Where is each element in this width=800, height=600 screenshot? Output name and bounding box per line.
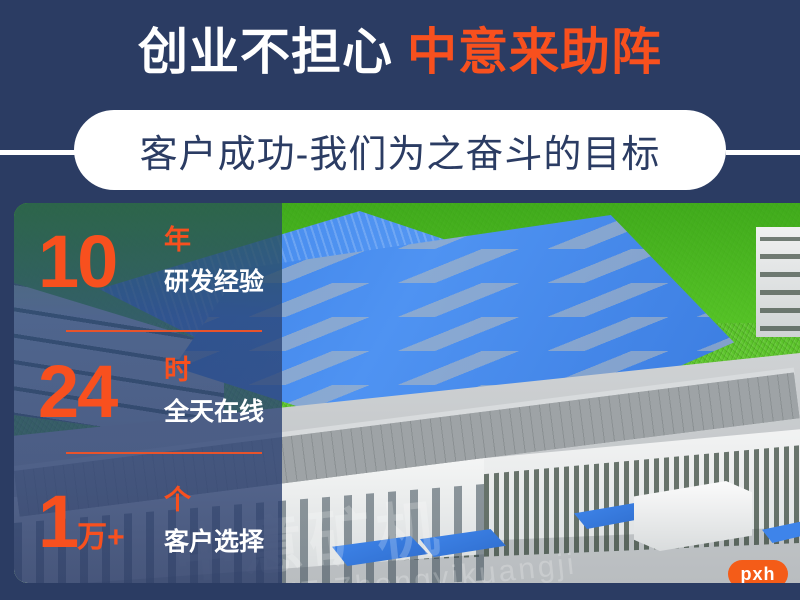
- stat-number-customers: 1万+: [38, 481, 125, 579]
- subtitle-pill: 客户成功-我们为之奋斗的目标: [74, 110, 726, 190]
- header-rule-left: [0, 150, 78, 155]
- subtitle-text: 客户成功-我们为之奋斗的目标: [140, 123, 661, 178]
- stat-label-customers: 客户选择: [164, 527, 264, 557]
- stat-number-value-online: 24: [38, 350, 116, 433]
- promo-poster: 创业不担心中意来助阵 客户成功-我们为之奋斗的目标: [0, 0, 800, 600]
- stat-label-online: 全天在线: [164, 397, 264, 427]
- stat-number-online: 24: [38, 351, 116, 449]
- stat-separator-2: [66, 452, 262, 454]
- stat-number-value-customers: 1: [38, 480, 77, 563]
- background-building-right-windows: [760, 237, 800, 331]
- stat-number-suffix-customers: 万+: [77, 521, 125, 554]
- stat-item-customers: 1万+ 个 客户选择: [14, 481, 282, 573]
- stat-unit-experience: 年: [164, 225, 191, 255]
- stat-number-value-experience: 10: [38, 220, 116, 303]
- headline-white-part: 创业不担心: [138, 24, 393, 80]
- stat-number-experience: 10: [38, 221, 116, 319]
- headline: 创业不担心中意来助阵: [0, 22, 800, 82]
- poster-header: 创业不担心中意来助阵 客户成功-我们为之奋斗的目标: [0, 0, 800, 195]
- stat-label-experience: 研发经验: [164, 267, 264, 297]
- stat-unit-customers: 个: [164, 485, 191, 515]
- stat-unit-online: 时: [164, 355, 191, 385]
- stats-panel: 10 年 研发经验 24 时 全天在线 1万+ 个 客户选择: [14, 203, 282, 583]
- stat-item-online: 24 时 全天在线: [14, 351, 282, 443]
- header-rule-right: [726, 150, 800, 155]
- stat-separator-1: [66, 330, 262, 332]
- bottom-strip: [0, 583, 800, 600]
- headline-orange-part: 中意来助阵: [407, 24, 662, 80]
- pxh-watermark-label: pxh: [740, 564, 775, 585]
- stat-item-experience: 10 年 研发经验: [14, 221, 282, 313]
